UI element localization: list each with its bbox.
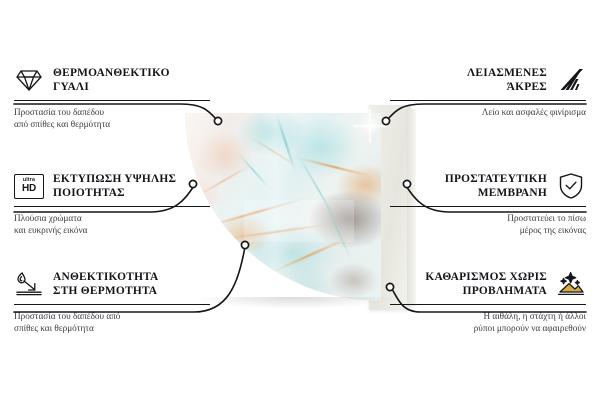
feature-description: Προστασία του δαπέδου από σπίθες και θερ… [14,310,210,335]
wire-dot-heat-durability [241,241,248,248]
feature-description: Πλούσια χρώματα και ευκρινής εικόνα [14,212,210,237]
feature-header: ΘΕΡΜΟΑΝΘΕΚΤΙΚΟ ΓΥΑΛΙ [14,64,210,96]
feature-high-quality-print: ultra HD ΕΚΤΥΠΩΣΗ ΥΨΗΛΗΣ ΠΟΙΟΤΗΤΑΣ Πλούσ… [14,170,210,237]
feature-description: Προστατεύει το πίσω μέρος της εικόνας [390,212,586,237]
feature-description: Η αιθάλη, η στάχτη ή άλλοι ρύποι μπορούν… [390,310,586,335]
feature-protective-membrane: ΠΡΟΣΤΑΤΕΥΤΙΚΗ ΜΕΜΒΡΑΝΗ Προστατεύει το πί… [390,170,586,237]
infographic-canvas: ΘΕΡΜΟΑΝΘΕΚΤΙΚΟ ΓΥΑΛΙ Προστασία του δαπέδ… [0,0,600,400]
feature-heat-durability: ΑΝΘΕΚΤΙΚΟΤΗΤΑ ΣΤΗ ΘΕΡΜΟΤΗΤΑ Προστασία το… [14,268,210,335]
feature-header: ΠΡΟΣΤΑΤΕΥΤΙΚΗ ΜΕΜΒΡΑΝΗ [390,170,586,202]
feature-header: ΛΕΙΑΣΜΕΝΕΣ ΆΚΡΕΣ [390,64,586,96]
flame-deflect-icon [14,269,44,299]
hd-badge-hd-label: HD [22,184,36,194]
diamond-icon [14,65,44,95]
feature-divider [390,206,586,207]
feature-title: ΠΡΟΣΤΑΤΕΥΤΙΚΗ ΜΕΜΒΡΑΝΗ [445,172,547,200]
wire-dot-polished-edges [382,117,389,124]
feature-divider [14,304,210,305]
feature-title: ΛΕΙΑΣΜΕΝΕΣ ΆΚΡΕΣ [467,66,547,94]
feature-header: ΑΝΘΕΚΤΙΚΟΤΗΤΑ ΣΤΗ ΘΕΡΜΟΤΗΤΑ [14,268,210,300]
ultra-hd-badge-icon: ultra HD [14,171,44,201]
feature-header: ΚΑΘΑΡΙΣΜΟΣ ΧΩΡΙΣ ΠΡΟΒΛΗΜΑΤΑ [390,268,586,300]
feature-heat-resistant-glass: ΘΕΡΜΟΑΝΘΕΚΤΙΚΟ ΓΥΑΛΙ Προστασία του δαπέδ… [14,64,210,131]
sparkle-surface-icon [556,269,586,299]
feature-header: ultra HD ΕΚΤΥΠΩΣΗ ΥΨΗΛΗΣ ΠΟΙΟΤΗΤΑΣ [14,170,210,202]
feature-divider [390,100,586,101]
diagonal-stripes-icon [556,65,586,95]
hd-badge-box: ultra HD [14,174,44,199]
feature-divider [14,206,210,207]
feature-divider [14,100,210,101]
wire-dot-heat-resistant-glass [214,117,221,124]
feature-title: ΚΑΘΑΡΙΣΜΟΣ ΧΩΡΙΣ ΠΡΟΒΛΗΜΑΤΑ [425,270,547,298]
feature-easy-cleaning: ΚΑΘΑΡΙΣΜΟΣ ΧΩΡΙΣ ΠΡΟΒΛΗΜΑΤΑ Η αιθάλη, η … [390,268,586,335]
feature-description: Λείο και ασφαλές φινίρισμα [390,106,586,118]
feature-title: ΕΚΤΥΠΩΣΗ ΥΨΗΛΗΣ ΠΟΙΟΤΗΤΑΣ [53,172,176,200]
feature-divider [390,304,586,305]
feature-title: ΑΝΘΕΚΤΙΚΟΤΗΤΑ ΣΤΗ ΘΕΡΜΟΤΗΤΑ [53,270,158,298]
feature-polished-edges: ΛΕΙΑΣΜΕΝΕΣ ΆΚΡΕΣ Λείο και ασφαλές φινίρι… [390,64,586,118]
feature-description: Προστασία του δαπέδου από σπίθες και θερ… [14,106,210,131]
feature-title: ΘΕΡΜΟΑΝΘΕΚΤΙΚΟ ΓΥΑΛΙ [53,66,170,94]
shield-check-icon [556,171,586,201]
